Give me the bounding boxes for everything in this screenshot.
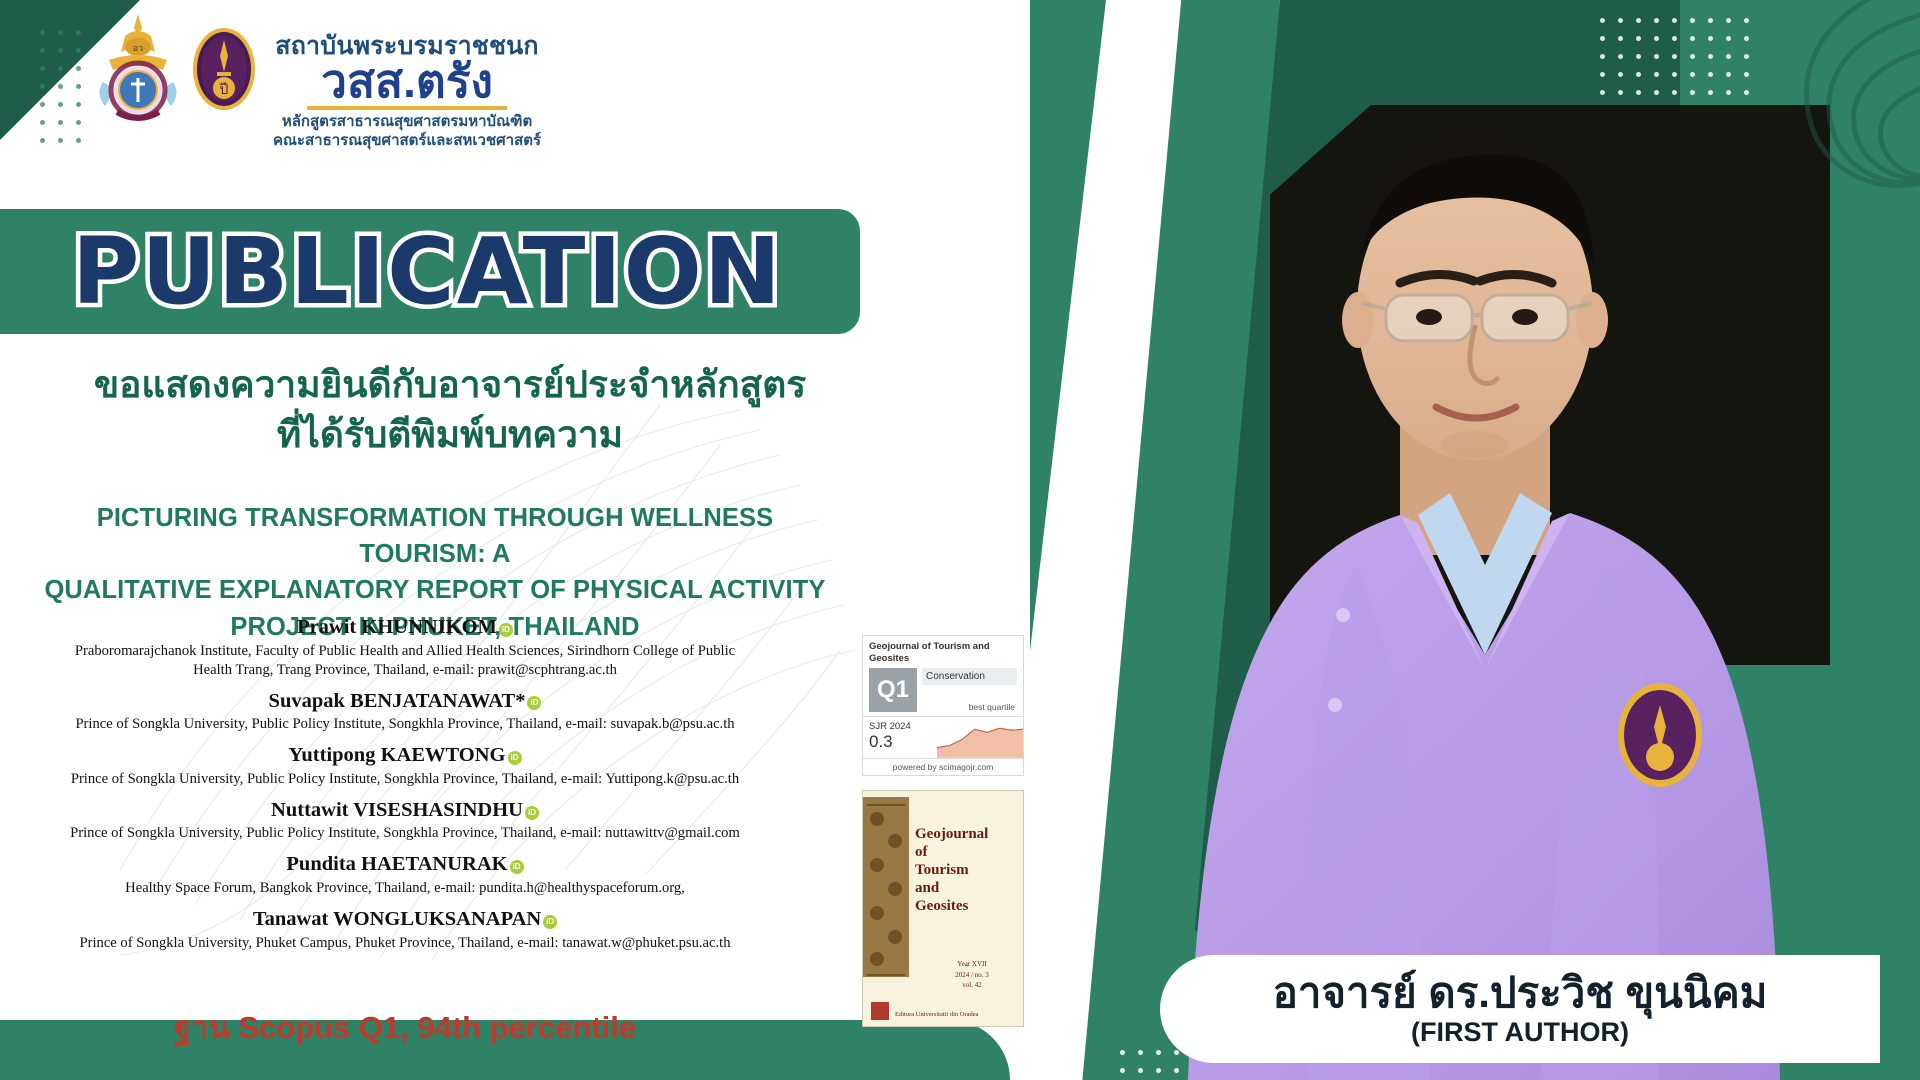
cover-title-line-2: of (915, 843, 1019, 861)
scimago-widget[interactable]: Geojournal of Tourism and Geosites Q1 Co… (862, 635, 1024, 776)
sjr-label: SJR 2024 (869, 721, 931, 732)
cover-title-line-4: and (915, 879, 1019, 897)
author-entry: Suvapak BENJATANAWAT* Prince of Songkla … (55, 689, 755, 735)
publication-banner: PUBLICATION (0, 209, 860, 334)
scopus-ranking-text: ฐาน Scopus Q1, 94th percentile (55, 1002, 755, 1052)
cover-title-line-3: Tourism (915, 861, 1019, 879)
sjr-block: SJR 2024 0.3 (863, 717, 937, 758)
author-entry: Pundita HAETANURAK Healthy Space Forum, … (55, 852, 755, 898)
author-name: Suvapak BENJATANAWAT* (269, 689, 542, 715)
cover-meta-volume: vol. 42 (925, 980, 1019, 991)
cover-title-line-5: Geosites (915, 897, 1019, 915)
orcid-icon[interactable] (508, 751, 522, 765)
svg-text:ปี: ปี (219, 82, 228, 98)
article-title-line-1: PICTURING TRANSFORMATION THROUGH WELLNES… (40, 500, 830, 572)
scimago-quartile-row: Q1 Conservation best quartile (863, 668, 1023, 716)
author-affiliation: Prince of Songkla University, Phuket Cam… (55, 934, 755, 953)
cover-publisher: Editura Universitatii din Oradea (895, 1011, 1015, 1018)
scimago-category: Conservation (922, 668, 1017, 685)
author-entry: Prawit KHUNNIKOM Praboromarajchanok Inst… (55, 615, 755, 680)
scimago-best-quartile: best quartile (922, 702, 1017, 712)
author-name: Pundita HAETANURAK (286, 852, 523, 878)
author-name-text: Tanawat WONGLUKSANAPAN (253, 907, 541, 933)
header-divider (307, 106, 507, 110)
header-text-block: สถาบันพระบรมราชชนก วสส.ตรัง หลักสูตรสาธา… (273, 34, 541, 151)
author-affiliation: Healthy Space Forum, Bangkok Province, T… (55, 879, 755, 898)
cover-meta-year: Year XVII (925, 959, 1019, 970)
author-portrait (1100, 95, 1860, 1080)
journal-cover-image: Geojournal of Tourism and Geosites Year … (862, 790, 1024, 1027)
page-title: PUBLICATION (72, 218, 783, 325)
publication-poster: อว ปี สถาบันพระบรมราชชนก วสส.ตรัง หลักสู… (0, 0, 1920, 1080)
author-name-banner: อาจารย์ ดร.ประวิช ขุนนิคม (FIRST AUTHOR) (1160, 955, 1880, 1063)
author-name-text: Nuttawit VISESHASINDHU (271, 798, 523, 824)
header-logo-bar: อว ปี สถาบันพระบรมราชชนก วสส.ตรัง หลักสู… (95, 12, 541, 151)
sjr-sparkline-chart (937, 717, 1023, 758)
author-name: Nuttawit VISESHASINDHU (271, 798, 539, 824)
cover-title: Geojournal of Tourism and Geosites (915, 825, 1019, 915)
quartile-badge: Q1 (869, 668, 917, 712)
cover-issue-meta: Year XVII 2024 / no. 3 vol. 42 (925, 959, 1019, 991)
svg-text:อว: อว (133, 44, 143, 54)
scimago-journal-name: Geojournal of Tourism and Geosites (863, 636, 1023, 668)
author-name: Tanawat WONGLUKSANAPAN (253, 907, 557, 933)
author-affiliation: Prince of Songkla University, Public Pol… (55, 715, 755, 734)
scimago-powered-by: powered by scimagojr.com (863, 758, 1023, 775)
royal-crest-icon: อว (95, 12, 181, 130)
author-entry: Tanawat WONGLUKSANAPAN Prince of Songkla… (55, 907, 755, 953)
author-name-text: Suvapak BENJATANAWAT* (269, 689, 526, 715)
orcid-icon[interactable] (510, 860, 524, 874)
author-name-text: Pundita HAETANURAK (286, 852, 507, 878)
author-affiliation: Prince of Songkla University, Public Pol… (55, 824, 755, 843)
cover-artwork-icon (863, 797, 909, 977)
orcid-icon[interactable] (525, 806, 539, 820)
university-seal-icon: ปี (191, 26, 257, 112)
dot-grid-left (40, 30, 81, 143)
orcid-icon[interactable] (543, 915, 557, 929)
congratulation-text: ขอแสดงความยินดีกับอาจารย์ประจำหลักสูตร ท… (0, 360, 900, 460)
author-affiliation: Praboromarajchanok Institute, Faculty of… (55, 642, 755, 680)
author-name: Yuttipong KAEWTONG (288, 743, 521, 769)
orcid-icon[interactable] (499, 623, 513, 637)
person-role: (FIRST AUTHOR) (1411, 1018, 1629, 1048)
author-name: Prawit KHUNNIKOM (297, 615, 513, 641)
scimago-category-block: Conservation best quartile (922, 668, 1017, 712)
person-name: อาจารย์ ดร.ประวิช ขุนนิคม (1273, 970, 1768, 1016)
scimago-sjr-row: SJR 2024 0.3 (863, 716, 1023, 758)
congrats-line-2: ที่ได้รับตีพิมพ์บทความ (0, 410, 900, 460)
author-name-text: Yuttipong KAEWTONG (288, 743, 505, 769)
congrats-line-1: ขอแสดงความยินดีกับอาจารย์ประจำหลักสูตร (0, 360, 900, 410)
orcid-icon[interactable] (527, 696, 541, 710)
author-entry: Nuttawit VISESHASINDHU Prince of Songkla… (55, 798, 755, 844)
author-affiliation: Prince of Songkla University, Public Pol… (55, 770, 755, 789)
publisher-logo-icon (871, 1002, 889, 1020)
article-title-line-2: QUALITATIVE EXPLANATORY REPORT OF PHYSIC… (40, 572, 830, 608)
author-name-text: Prawit KHUNNIKOM (297, 615, 497, 641)
institute-abbrev: วสส.ตรัง (321, 57, 493, 105)
author-list: Prawit KHUNNIKOM Praboromarajchanok Inst… (55, 615, 755, 962)
sjr-value: 0.3 (869, 732, 931, 752)
author-entry: Yuttipong KAEWTONG Prince of Songkla Uni… (55, 743, 755, 789)
program-line-2: คณะสาธารณสุขศาสตร์และสหเวชศาสตร์ (273, 132, 541, 151)
cover-meta-issue: 2024 / no. 3 (925, 970, 1019, 981)
program-line-1: หลักสูตรสาธารณสุขศาสตรมหาบัณฑิต (282, 113, 532, 132)
cover-title-line-1: Geojournal (915, 825, 1019, 843)
